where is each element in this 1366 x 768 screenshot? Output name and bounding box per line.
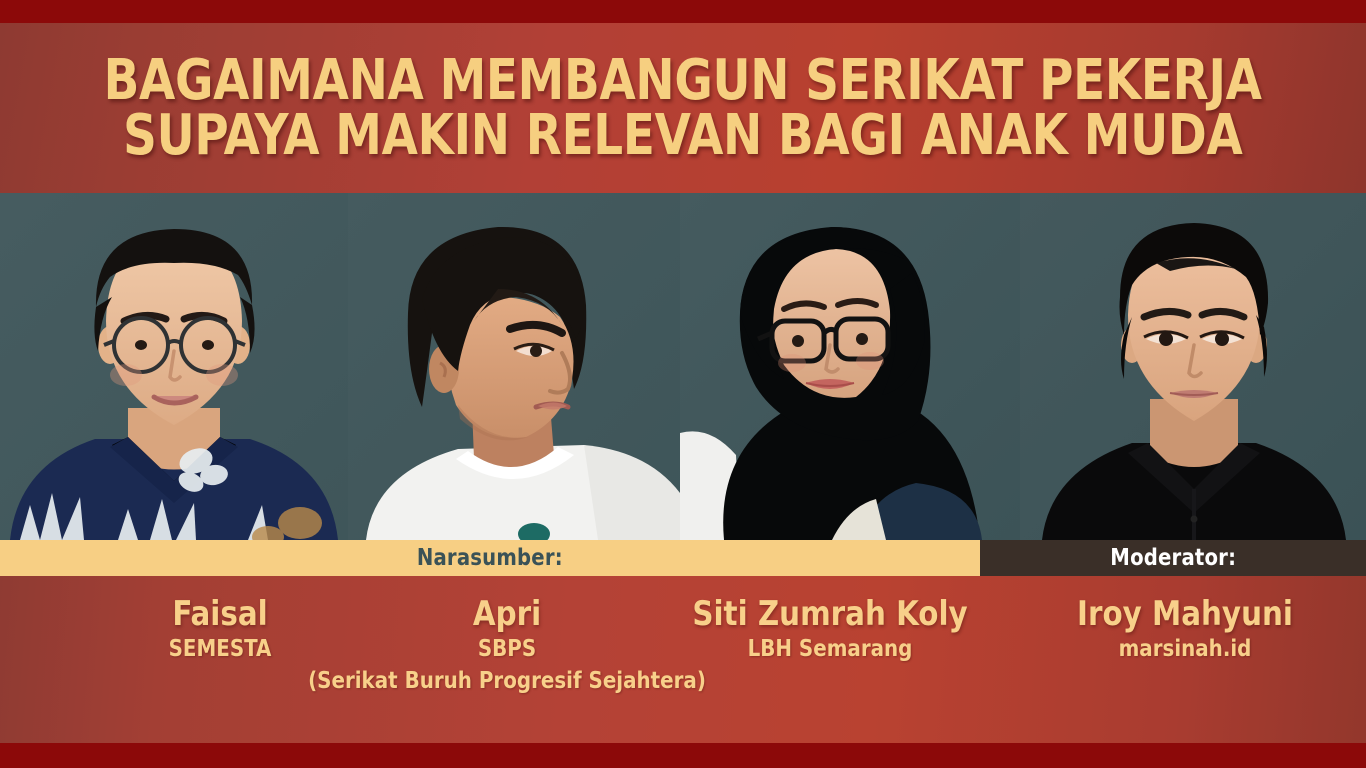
portrait-faisal [0,193,348,540]
portrait-strip [0,193,1366,540]
poster-title-line-1: BAGAIMANA MEMBANGUN SERIKAT PEKERJA [104,54,1262,109]
top-accent-band [0,0,1366,23]
speakers-panel: Faisal SEMESTA Apri SBPS (Serikat Buruh … [0,576,1366,743]
speaker-entry-3: Siti Zumrah Koly LBH Semarang [645,596,1015,665]
event-poster: BAGAIMANA MEMBANGUN SERIKAT PEKERJA SUPA… [0,0,1366,768]
portrait-siti-zumrah-koly [680,193,1020,540]
role-bar: Narasumber: Moderator: [0,540,1366,576]
portrait-apri-illustration [348,193,680,540]
speaker-org-detail-2: (Serikat Buruh Progresif Sejahtera) [301,667,714,697]
speaker-name-4: Iroy Mahyuni [1017,596,1353,633]
poster-title-line-2: SUPAYA MAKIN RELEVAN BAGI ANAK MUDA [123,109,1242,164]
bottom-accent-band [0,743,1366,768]
moderator-label: Moderator: [1110,545,1236,571]
portrait-iroy-mahyuni [1020,193,1366,540]
poster-title-block: BAGAIMANA MEMBANGUN SERIKAT PEKERJA SUPA… [0,23,1366,193]
portrait-faisal-illustration [0,193,348,540]
portrait-apri [348,193,680,540]
moderator-bar: Moderator: [980,540,1366,576]
portrait-siti-illustration [680,193,1020,540]
speaker-name-3: Siti Zumrah Koly [652,596,1007,633]
speaker-org-3: LBH Semarang [652,635,1007,665]
narasumber-label: Narasumber: [417,545,563,571]
speaker-entry-4: Iroy Mahyuni marsinah.id [1010,596,1360,665]
narasumber-bar: Narasumber: [0,540,980,576]
speaker-org-4: marsinah.id [1017,635,1353,665]
portrait-iroy-illustration [1020,193,1366,540]
